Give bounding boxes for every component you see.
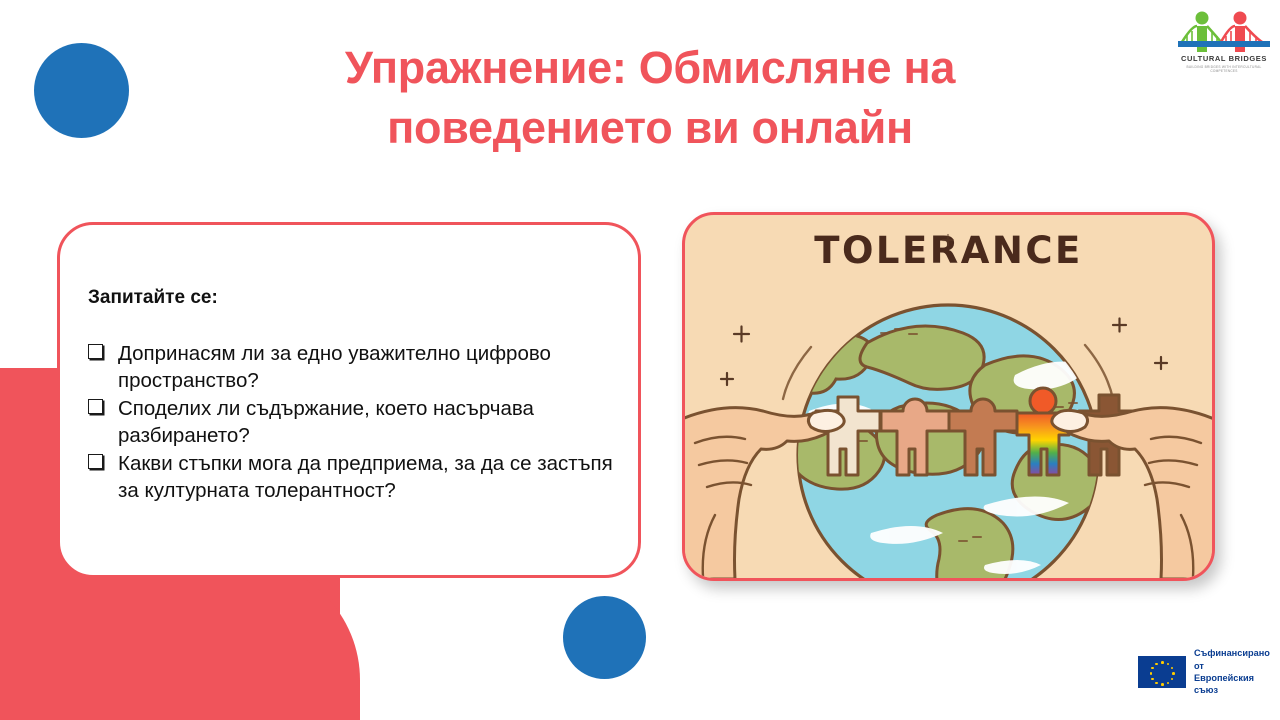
list-item: Допринасям ли за едно уважително цифрово… bbox=[86, 340, 616, 394]
person-rainbow-head bbox=[1030, 388, 1056, 414]
bridge-deck bbox=[1178, 41, 1270, 47]
cultural-bridges-wordmark: CULTURAL BRIDGES bbox=[1178, 54, 1270, 63]
checkbox-icon bbox=[88, 399, 103, 414]
green-figure-head bbox=[1196, 12, 1209, 25]
reflection-card: Запитайте се: Допринасям ли за едно уваж… bbox=[57, 222, 641, 578]
list-item-label: Какви стъпки мога да предприема, за да с… bbox=[118, 452, 613, 502]
list-item: Какви стъпки мога да предприема, за да с… bbox=[86, 450, 616, 504]
blue-circle-top-left bbox=[34, 43, 129, 138]
list-item-label: Допринасям ли за едно уважително цифрово… bbox=[118, 342, 551, 392]
tolerance-artwork bbox=[685, 215, 1212, 578]
tolerance-illustration-card: TOLERANCE bbox=[682, 212, 1215, 581]
checkbox-icon bbox=[88, 344, 103, 359]
list-item: Споделих ли съдържание, което насърчава … bbox=[86, 395, 616, 449]
green-figure-body bbox=[1197, 26, 1207, 52]
eu-funding-text: Съфинансирано от Европейския съюз bbox=[1194, 647, 1270, 697]
red-figure-head bbox=[1234, 12, 1247, 25]
slide-canvas: Упражнение: Обмисляне на поведението ви … bbox=[0, 0, 1280, 720]
coral-blob-lower-decoration bbox=[0, 560, 360, 720]
cultural-bridges-logo: CULTURAL BRIDGES BUILDING BRIDGES WITH I… bbox=[1178, 8, 1270, 78]
reflection-heading: Запитайте се: bbox=[88, 287, 218, 309]
cultural-bridges-tagline: BUILDING BRIDGES WITH INTERCULTURAL COMP… bbox=[1178, 65, 1270, 73]
eu-flag-icon bbox=[1138, 656, 1186, 688]
eu-funding-logo: Съфинансирано от Европейския съюз bbox=[1138, 655, 1270, 689]
blue-circle-bottom bbox=[563, 596, 646, 679]
reflection-question-list: Допринасям ли за едно уважително цифрово… bbox=[86, 340, 616, 505]
checkbox-icon bbox=[88, 454, 103, 469]
bridge-icon bbox=[1178, 8, 1270, 54]
slide-title: Упражнение: Обмисляне на поведението ви … bbox=[250, 38, 1050, 158]
list-item-label: Споделих ли съдържание, което насърчава … bbox=[118, 397, 534, 447]
red-figure-body bbox=[1235, 26, 1245, 52]
